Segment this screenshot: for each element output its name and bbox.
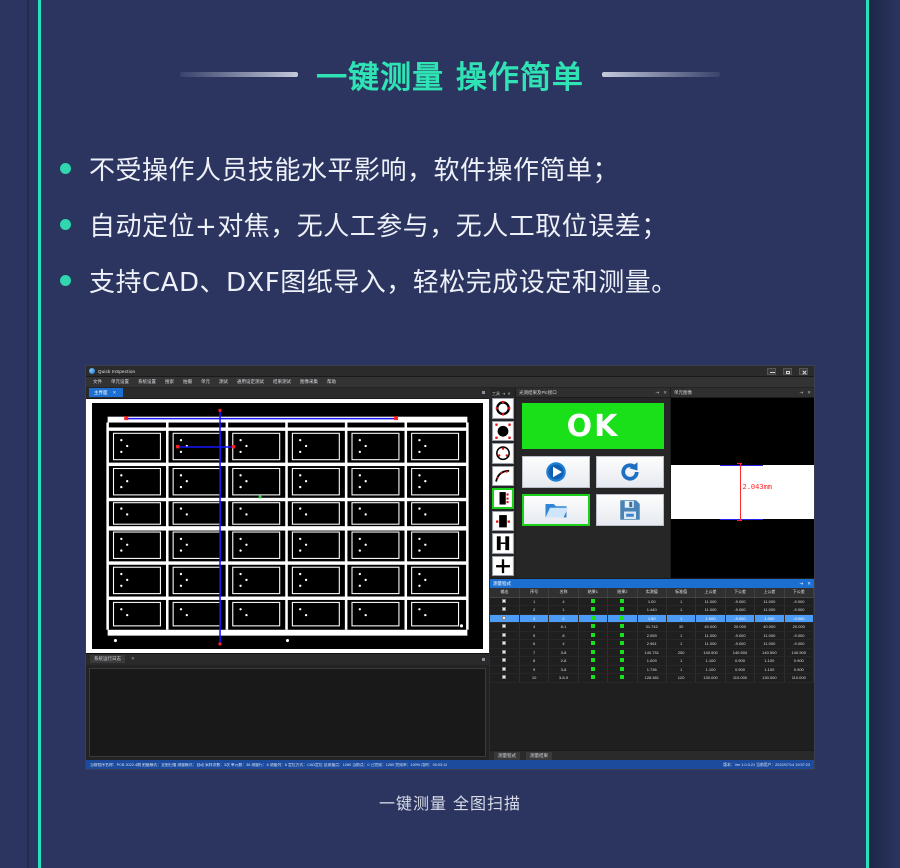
cell-result2 [608,657,637,666]
cell-result1 [578,648,607,657]
result-ok-indicator [620,624,624,628]
cell-upper-tol-2: 11.000 [755,606,784,615]
result-ok-indicator [591,658,595,662]
play-icon [543,460,569,484]
result-ok-indicator [620,667,624,671]
refresh-icon [617,460,643,484]
measure-cap-bottom [737,520,742,521]
folder-icon [543,498,569,522]
cell-result2 [608,665,637,674]
bullet-dot-icon [60,163,71,174]
cell-lower-tol: -9.000 [725,606,754,615]
output-checkbox[interactable] [502,607,506,611]
col-lower-tol-2[interactable]: 下公差 [784,588,813,597]
cell-standard: 250 [666,648,695,657]
table-row[interactable]: 211.440111.000-9.00011.000-9.000 [490,606,814,615]
result-ok-indicator [591,667,595,671]
camera-image[interactable]: 2.043mm [671,398,814,578]
menu-item-system[interactable]: 系统设置 [138,379,156,385]
status-badge: OK [522,403,664,449]
menu-item-cell[interactable]: 单元 [201,379,210,385]
cell-index: 10 [519,674,548,683]
pin-icon[interactable]: ⇥ [502,391,505,396]
cell-standard: 1 [666,631,695,640]
cell-output [490,640,519,649]
left-column: 主界面 ✕ [86,388,490,760]
cell-lower-tol-2: -9.000 [784,640,813,649]
col-result2[interactable]: 结果2 [608,588,637,597]
cell-name: 2-8 [549,657,578,666]
cell-result1 [578,597,607,606]
cell-name: 4 [549,640,578,649]
cell-lower-tol: 110.000 [725,674,754,683]
crosshair-tool-icon[interactable] [492,556,514,576]
cell-measured: 1.736 [637,665,666,674]
bullet-text: 不受操作人员技能水平影响，软件操作简单； [89,150,619,187]
circle-ring-tool-icon[interactable] [492,398,514,418]
col-result1[interactable]: 结果1 [578,588,607,597]
cell-lower-tol: 20.000 [725,623,754,632]
cell-index: 8 [519,657,548,666]
right-column: 工具 ⇥ ✕ [490,388,814,760]
tab-system-log[interactable]: 系统运行日志 [90,655,125,663]
title-rule-right [602,72,720,77]
cell-upper-tol: 40.000 [696,623,725,632]
cell-index: 7 [519,648,548,657]
measure-tool-rail: 工具 ⇥ ✕ [490,388,516,578]
pin-icon[interactable]: ⇥ [655,390,659,396]
cell-standard: 30 [666,623,695,632]
cell-index: 6 [519,640,548,649]
cell-standard: 1 [666,614,695,623]
cell-upper-tol-2: 11.000 [755,640,784,649]
menubar: 文件 单元设置 系统设置 搜索 拍摄 单元 测试 通用设定测试 结果测试 图像采… [86,377,814,388]
cell-measured: 2.961 [637,640,666,649]
result-ok-indicator [620,675,624,679]
cell-lower-tol-2: 110.000 [784,674,813,683]
cell-lower-tol: 0.900 [725,657,754,666]
control-panel-body: OK [516,398,670,578]
cell-upper-tol: 11.000 [696,597,725,606]
cell-upper-tol: 11.000 [696,606,725,615]
close-icon[interactable]: ✕ [807,581,811,587]
cell-upper-tol-2: 1.100 [755,657,784,666]
menu-item-search[interactable]: 搜索 [165,379,174,385]
measure-cap-top [737,463,742,464]
cell-index: 2 [519,606,548,615]
measurement-table: 输出 序号 名称 结果1 结果2 实测值 标准值 上公差 下公差 上公差 [490,588,814,683]
cell-result2 [608,606,637,615]
result-ok-indicator [620,658,624,662]
list-item: 不受操作人员技能水平影响，软件操作简单； [60,140,860,196]
cell-upper-tol-2: 1.100 [755,665,784,674]
open-folder-button[interactable] [522,494,590,526]
cell-lower-tol-2: 0.900 [784,657,813,666]
cell-result1 [578,614,607,623]
result-ok-indicator [591,616,595,620]
output-checkbox[interactable] [502,658,506,662]
result-ok-indicator [591,641,595,645]
log-tabstrip: 系统运行日志 ✕ [86,654,489,665]
result-ok-indicator [620,599,624,603]
log-overflow-icon[interactable] [482,658,485,661]
cell-measured: 1.00 [637,597,666,606]
cell-name: 2 [549,614,578,623]
cell-standard: 120 [666,674,695,683]
circle-points-tool-icon[interactable] [492,443,514,463]
save-disk-icon [617,498,643,522]
result-ok-indicator [620,641,624,645]
bullet-dot-icon [60,219,71,230]
right-top-area: 工具 ⇥ ✕ [490,388,814,578]
app-logo-icon [89,368,95,374]
cell-upper-tol: 11.000 [696,631,725,640]
page-title: 一键测量 操作简单 [316,52,584,97]
cell-output [490,631,519,640]
col-upper-tol-2[interactable]: 上公差 [755,588,784,597]
cell-standard: 1 [666,657,695,666]
left-dark-rule [27,0,29,868]
cell-lower-tol: -9.000 [725,631,754,640]
menu-item-help[interactable]: 帮助 [327,379,336,385]
output-checkbox[interactable] [502,633,506,637]
tab-main-view[interactable]: 主界面 ✕ [89,388,123,397]
table-row[interactable]: 103-8-9128.381120130.000110.000130.00011… [490,674,814,683]
table-row[interactable]: 582.059111.000-9.00011.000-9.000 [490,631,814,640]
application-window: Quick InSpection 文件 单元设置 系统设置 搜索 拍摄 单元 测… [85,365,815,770]
right-edge-gradient [869,0,900,868]
menu-item-general-test[interactable]: 通用设定测试 [237,379,264,385]
refresh-button[interactable] [596,456,664,488]
close-icon[interactable]: ✕ [131,656,135,662]
result-ok-indicator [591,633,595,637]
cell-upper-tol: 140.500 [696,648,725,657]
cell-upper-tol-2: 140.500 [755,648,784,657]
menu-item-file[interactable]: 文件 [93,379,102,385]
cell-result1 [578,623,607,632]
rect-edge-tool-icon[interactable] [492,488,514,509]
col-output[interactable]: 输出 [490,588,519,597]
close-button[interactable] [799,368,808,375]
save-button[interactable] [596,494,664,526]
cell-result2 [608,614,637,623]
cell-result1 [578,631,607,640]
cell-upper-tol-2: 130.000 [755,674,784,683]
figure-caption: 一键测量 全图扫描 [0,790,900,814]
cad-viewport[interactable] [86,399,489,653]
cell-index: 4 [519,623,548,632]
measurement-value: 2.043mm [743,483,773,491]
tabstrip-overflow-icon[interactable] [482,391,485,394]
left-teal-rule [38,0,41,868]
control-panel-header: 光测结果及Plc接口 ⇥ ✕ [516,388,670,398]
cell-measured: 1.440 [637,606,666,615]
table-panel-header: 测量程式 ⇥ ✕ [490,579,814,588]
output-checkbox[interactable] [502,667,506,671]
cell-result2 [608,674,637,683]
pcb-panel-drawing[interactable] [92,403,483,649]
close-icon[interactable]: ✕ [663,390,667,396]
cell-upper-tol: 1.000 [696,614,725,623]
status-left-text: 当前程序名称：PCB 2022-4期 拍摄模式：全图扫描 测量模式：自动 采样次… [90,763,447,768]
minimize-button[interactable] [767,368,776,375]
tool-rail-label: 工具 [492,391,500,397]
bullet-text: 自动定位+对焦，无人工参与，无人工取位误差； [89,206,668,243]
menu-item-image[interactable]: 图像采集 [300,379,318,385]
log-output[interactable] [89,668,486,757]
table-row[interactable]: 48-131.7423040.00020.00040.00020.000 [490,623,814,632]
cell-result1 [578,640,607,649]
cell-lower-tol: -9.000 [725,640,754,649]
cell-output [490,674,519,683]
table-bottom-tabs: 测量程式 测量结果 [490,750,814,760]
result-ok-indicator [620,607,624,611]
promo-page: 一键测量 操作简单 不受操作人员技能水平影响，软件操作简单； 自动定位+对焦，无… [0,0,900,868]
cell-result2 [608,631,637,640]
close-icon[interactable]: ✕ [807,390,811,396]
cell-upper-tol: 130.000 [696,674,725,683]
cell-measured: 1.009 [637,657,666,666]
edge-line-top [720,465,763,466]
play-button[interactable] [522,456,590,488]
pin-icon[interactable]: ⇥ [799,581,803,587]
cell-result2 [608,640,637,649]
cell-measured: 31.742 [637,623,666,632]
cell-result1 [578,665,607,674]
cell-measured: 140.751 [637,648,666,657]
cell-index: 3 [519,614,548,623]
cell-lower-tol-2: -9.000 [784,614,813,623]
table-header-row: 输出 序号 名称 结果1 结果2 实测值 标准值 上公差 下公差 上公差 [490,588,814,597]
bullet-text: 支持CAD、DXF图纸导入，轻松完成设定和测量。 [89,262,678,299]
close-icon[interactable]: ✕ [113,390,117,396]
col-standard[interactable]: 标准值 [666,588,695,597]
cell-output [490,657,519,666]
page-title-block: 一键测量 操作简单 [0,52,900,97]
arc-tool-icon[interactable] [492,466,514,486]
cell-result2 [608,623,637,632]
col-index[interactable]: 序号 [519,588,548,597]
bullet-dot-icon [60,275,71,286]
tab-measure-result[interactable]: 测量结果 [526,752,552,760]
window-title: Quick InSpection [98,369,135,374]
control-panel-title: 光测结果及Plc接口 [519,390,557,396]
cell-measured: 2.059 [637,631,666,640]
output-checkbox[interactable] [502,616,506,620]
cell-lower-tol: 0.900 [725,665,754,674]
table-row[interactable]: 321.5011.000-9.0001.000-9.000 [490,614,814,623]
output-checkbox[interactable] [502,641,506,645]
menu-item-unit[interactable]: 单元设置 [111,379,129,385]
cell-standard: 1 [666,597,695,606]
cell-name: 3-8-9 [549,674,578,683]
output-checkbox[interactable] [502,675,506,679]
table-panel-title: 测量程式 [493,581,511,587]
cell-standard: 1 [666,665,695,674]
result-ok-indicator [620,650,624,654]
width-tool-icon[interactable] [492,533,514,553]
result-ok-indicator [591,675,595,679]
cell-index: 1 [519,597,548,606]
menu-item-capture[interactable]: 拍摄 [183,379,192,385]
cell-name: 8 [549,631,578,640]
cell-output [490,614,519,623]
cell-result2 [608,597,637,606]
window-controls [767,368,811,375]
cell-upper-tol-2: 1.000 [755,614,784,623]
cell-name: 1 [549,606,578,615]
table-row[interactable]: 73-8140.751250140.500140.500140.500140.5… [490,648,814,657]
result-ok-indicator [591,607,595,611]
cell-name: 3-8 [549,648,578,657]
result-ok-indicator [620,633,624,637]
result-ok-indicator [591,624,595,628]
col-measured[interactable]: 实测值 [637,588,666,597]
result-ok-indicator [591,599,595,603]
cell-lower-tol-2: -9.000 [784,631,813,640]
cell-output [490,606,519,615]
cell-lower-tol: -9.000 [725,614,754,623]
cell-lower-tol-2: 0.900 [784,665,813,674]
cell-name: 3-8 [549,665,578,674]
control-panel: 光测结果及Plc接口 ⇥ ✕ OK [516,388,671,578]
part-surface [671,465,814,519]
action-button-grid [522,456,664,526]
window-titlebar: Quick InSpection [86,366,814,377]
list-item: 自动定位+对焦，无人工参与，无人工取位误差； [60,196,860,252]
tab-label: 主界面 [94,390,108,396]
cell-measured: 128.381 [637,674,666,683]
menu-item-result[interactable]: 结果测试 [273,379,291,385]
cell-lower-tol-2: 20.000 [784,623,813,632]
cell-upper-tol-2: 11.000 [755,631,784,640]
log-panel: 系统运行日志 ✕ [86,653,489,760]
pcb-layout-svg [92,403,483,649]
close-icon[interactable]: ✕ [507,391,510,396]
measure-line [740,463,741,521]
tool-rail-header: 工具 ⇥ ✕ [490,389,515,398]
cell-output [490,648,519,657]
cell-index: 9 [519,665,548,674]
cad-tabstrip: 主界面 ✕ [86,388,489,399]
list-item: 支持CAD、DXF图纸导入，轻松完成设定和测量。 [60,252,860,308]
cell-lower-tol-2: -9.000 [784,597,813,606]
table-row[interactable]: 141.00111.000-9.00011.000-9.000 [490,597,814,606]
cell-measured: 1.50 [637,614,666,623]
maximize-button[interactable] [783,368,792,375]
filled-circle-tool-icon[interactable] [492,421,514,441]
cell-result1 [578,606,607,615]
output-checkbox[interactable] [502,650,506,654]
cell-standard: 1 [666,640,695,649]
cell-upper-tol-2: 40.000 [755,623,784,632]
cell-lower-tol: -9.000 [725,597,754,606]
col-name[interactable]: 名称 [549,588,578,597]
cell-upper-tol: 1.100 [696,657,725,666]
rect-tool-icon[interactable] [492,511,514,531]
image-panel-title: 单元图像 [674,390,692,396]
output-checkbox[interactable] [502,624,506,628]
table-scroll-area[interactable]: 输出 序号 名称 结果1 结果2 实测值 标准值 上公差 下公差 上公差 [490,588,814,750]
status-right-text: 版本：Ver 1.0.0.21 当前用户：2022/07/14 19:57:23 [723,763,810,768]
table-row[interactable]: 642.961111.000-9.00011.000-9.000 [490,640,814,649]
cell-upper-tol: 1.100 [696,665,725,674]
menu-item-test[interactable]: 测试 [219,379,228,385]
cell-result1 [578,674,607,683]
cell-output [490,597,519,606]
tab-measure-program[interactable]: 测量程式 [494,752,520,760]
cell-lower-tol-2: 140.500 [784,648,813,657]
cell-name: 4 [549,597,578,606]
cell-name: 8-1 [549,623,578,632]
col-upper-tol[interactable]: 上公差 [696,588,725,597]
image-panel-header: 单元图像 ⇥ ✕ [671,388,814,398]
cell-result2 [608,648,637,657]
feature-list: 不受操作人员技能水平影响，软件操作简单； 自动定位+对焦，无人工参与，无人工取位… [60,140,860,308]
table-row[interactable]: 82-81.00911.1000.9001.1000.900 [490,657,814,666]
output-checkbox[interactable] [502,599,506,603]
window-body: 主界面 ✕ [86,388,814,760]
result-ok-indicator [591,650,595,654]
cell-result1 [578,657,607,666]
statusbar: 当前程序名称：PCB 2022-4期 拍摄模式：全图扫描 测量模式：自动 采样次… [86,760,814,770]
cell-standard: 1 [666,606,695,615]
measurement-table-panel: 测量程式 ⇥ ✕ 输出 序号 名称 [490,578,814,760]
table-body: 141.00111.000-9.00011.000-9.000211.44011… [490,597,814,682]
col-lower-tol[interactable]: 下公差 [725,588,754,597]
cell-upper-tol: 11.000 [696,640,725,649]
table-row[interactable]: 93-81.73611.1000.9001.1000.900 [490,665,814,674]
cell-index: 5 [519,631,548,640]
cell-output [490,623,519,632]
cell-output [490,665,519,674]
cell-lower-tol-2: -9.000 [784,606,813,615]
title-rule-left [180,72,298,77]
result-ok-indicator [620,616,624,620]
cell-lower-tol: 140.500 [725,648,754,657]
pin-icon[interactable]: ⇥ [799,390,803,396]
image-panel: 单元图像 ⇥ ✕ [671,388,814,578]
cell-upper-tol-2: 11.000 [755,597,784,606]
